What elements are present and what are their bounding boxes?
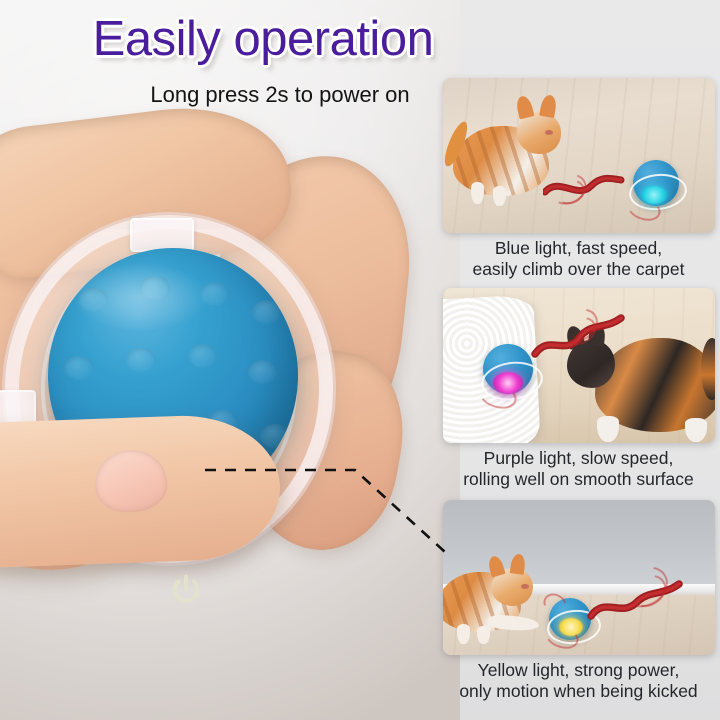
caption-line-1: Yellow light, strong power,	[437, 660, 720, 681]
shell-tab-top	[130, 218, 194, 252]
product-feature-image: Blue light, fast speed, easily climb ove…	[0, 0, 720, 720]
ginger-kitten	[443, 558, 555, 650]
caption-line-1: Purple light, slow speed,	[437, 448, 720, 469]
caption-line-2: only motion when being kicked	[437, 681, 720, 702]
hand-holding-ball-photo	[0, 120, 440, 720]
panel-blue-light-caption: Blue light, fast speed, easily climb ove…	[437, 238, 720, 281]
panel-purple-light-image	[443, 288, 715, 443]
page-title: Easily operation	[28, 14, 498, 65]
power-icon[interactable]	[168, 572, 204, 608]
caption-line-2: easily climb over the carpet	[437, 259, 720, 280]
panel-purple-light-caption: Purple light, slow speed, rolling well o…	[437, 448, 720, 491]
feature-panel-list: Blue light, fast speed, easily climb ove…	[437, 0, 720, 720]
caption-line-2: rolling well on smooth surface	[437, 469, 720, 490]
caption-line-1: Blue light, fast speed,	[437, 238, 720, 259]
panel-yellow-light-caption: Yellow light, strong power, only motion …	[437, 660, 720, 703]
panel-purple-light[interactable]: Purple light, slow speed, rolling well o…	[437, 288, 720, 491]
page-subtitle: Long press 2s to power on	[60, 82, 500, 108]
panel-blue-light[interactable]: Blue light, fast speed, easily climb ove…	[437, 78, 720, 281]
panel-yellow-light-image	[443, 500, 715, 655]
panel-yellow-light[interactable]: Yellow light, strong power, only motion …	[437, 500, 720, 703]
